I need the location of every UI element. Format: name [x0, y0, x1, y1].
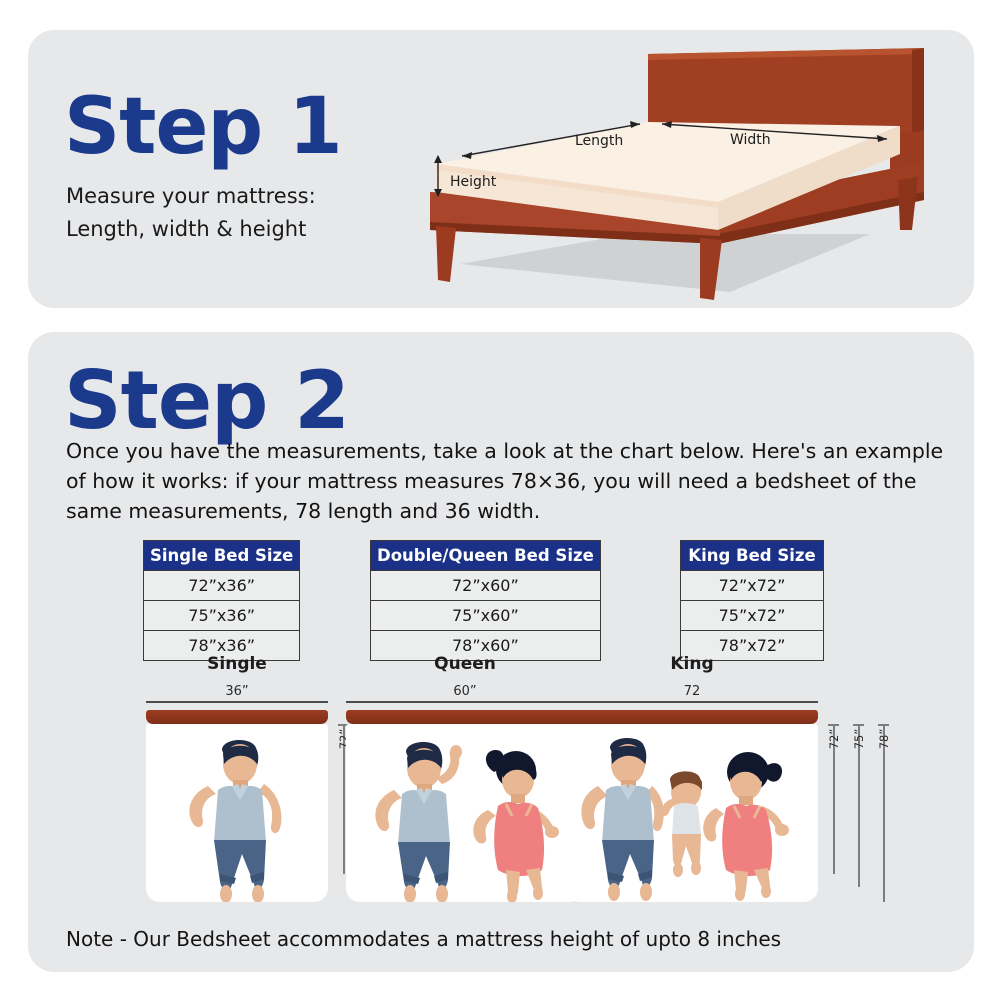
panel-single-body: 36”	[146, 684, 328, 902]
table-row: 72”x72”	[681, 571, 824, 601]
step-2-title: Step 2	[64, 354, 349, 447]
figure-man-king	[581, 738, 664, 901]
figure-child-king	[659, 771, 702, 877]
table-row: 72”x36”	[144, 571, 300, 601]
bedsheet-size-guide-page: Step 1 Measure your mattress: Length, wi…	[0, 0, 1000, 1000]
table-double-queen-bed-size: Double/Queen Bed Size 72”x60” 75”x60” 78…	[370, 540, 601, 661]
figure-man-single	[146, 724, 328, 902]
panel-king: King 72	[566, 654, 818, 902]
bed-illustration: Length Width Height	[400, 34, 970, 306]
panel-king-headboard	[566, 710, 818, 724]
bed-leg-front-left	[436, 226, 456, 282]
bed-svg: Length Width Height	[400, 34, 970, 306]
panel-king-title: King	[566, 654, 818, 674]
panel-queen-headboard	[346, 710, 584, 724]
table-row: 75”x72”	[681, 601, 824, 631]
table-single-row-0: 72”x36”	[144, 571, 300, 601]
bedsheet-height-note: Note - Our Bedsheet accommodates a mattr…	[66, 927, 781, 951]
table-queen-row-1: 75”x60”	[371, 601, 601, 631]
panel-single-title: Single	[146, 654, 328, 674]
panel-queen-width-rule	[346, 701, 584, 703]
step-2-card: Step 2 Once you have the measurements, t…	[28, 332, 974, 972]
panel-king-width-rule	[566, 701, 818, 703]
table-single-row-1: 75”x36”	[144, 601, 300, 631]
figure-man-queen	[375, 742, 462, 902]
panel-king-body: 72	[566, 684, 818, 902]
panel-queen-title: Queen	[346, 654, 584, 674]
panel-single-headboard	[146, 710, 328, 724]
figure-woman-queen	[473, 750, 559, 902]
bed-width-label: Width	[730, 132, 771, 148]
table-queen-header: Double/Queen Bed Size	[371, 541, 601, 571]
panel-single-mattress	[146, 724, 328, 902]
panel-king-mattress-wrap: 72” 75” 78”	[566, 710, 818, 902]
table-single-header: Single Bed Size	[144, 541, 300, 571]
figure-woman-king	[703, 752, 789, 901]
panel-queen: Queen 60”	[346, 654, 584, 902]
table-king-bed-size: King Bed Size 72”x72” 75”x72” 78”x72”	[680, 540, 824, 661]
bed-length-label: Length	[575, 133, 623, 149]
panel-single-mattress-wrap: 72” 75” 78”	[146, 710, 328, 902]
panel-king-mattress	[566, 724, 818, 902]
step-2-body-text: Once you have the measurements, take a l…	[66, 436, 946, 526]
panel-queen-mattress	[346, 724, 584, 902]
step-1-subtitle: Measure your mattress: Length, width & h…	[66, 180, 316, 246]
figures-man-woman-queen	[346, 724, 584, 902]
panel-single: Single 36”	[146, 654, 328, 902]
figures-family-king	[566, 724, 818, 902]
table-king-header: King Bed Size	[681, 541, 824, 571]
panel-king-width-label: 72	[566, 684, 818, 699]
bed-height-label: Height	[450, 174, 497, 190]
panel-queen-width-label: 60”	[346, 684, 584, 699]
table-queen-row-0: 72”x60”	[371, 571, 601, 601]
table-king-row-1: 75”x72”	[681, 601, 824, 631]
step-1-subtitle-line-1: Measure your mattress:	[66, 180, 316, 213]
table-row: 75”x36”	[144, 601, 300, 631]
step-1-title: Step 1	[64, 82, 342, 172]
step-1-card: Step 1 Measure your mattress: Length, wi…	[28, 30, 974, 308]
panel-queen-body: 60”	[346, 684, 584, 902]
panel-single-width-rule	[146, 701, 328, 703]
panel-single-width-label: 36”	[146, 684, 328, 699]
table-row: 72”x60”	[371, 571, 601, 601]
table-king-row-0: 72”x72”	[681, 571, 824, 601]
table-row: 75”x60”	[371, 601, 601, 631]
bed-leg-back-right	[898, 177, 918, 230]
step-1-subtitle-line-2: Length, width & height	[66, 213, 316, 246]
panel-queen-mattress-wrap: 72” 75” 78”	[346, 710, 584, 902]
table-single-bed-size: Single Bed Size 72”x36” 75”x36” 78”x36”	[143, 540, 300, 661]
bed-floor-shadow	[460, 234, 870, 292]
